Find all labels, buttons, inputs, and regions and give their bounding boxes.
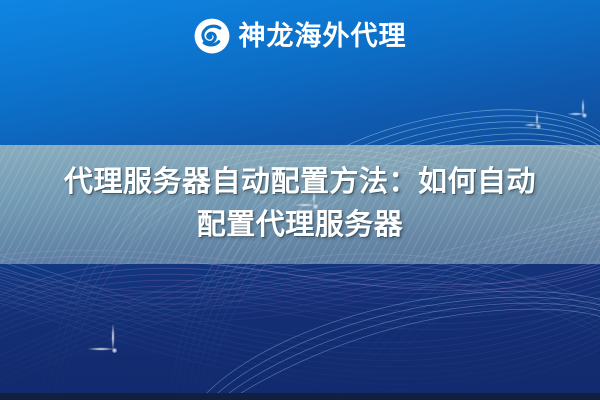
bottom-strip <box>0 393 600 400</box>
spiral-swirl-logo-icon <box>194 18 230 54</box>
brand-name: 神龙海外代理 <box>239 23 407 50</box>
promo-banner: 神龙海外代理 代理服务器自动配置方法：如何自动 配置代理服务器 <box>0 0 600 400</box>
headline-line-2: 配置代理服务器 <box>18 203 582 246</box>
brand-logo: 神龙海外代理 <box>0 18 600 54</box>
page-title: 代理服务器自动配置方法：如何自动 配置代理服务器 <box>18 160 582 246</box>
headline-line-1: 代理服务器自动配置方法：如何自动 <box>18 160 582 203</box>
